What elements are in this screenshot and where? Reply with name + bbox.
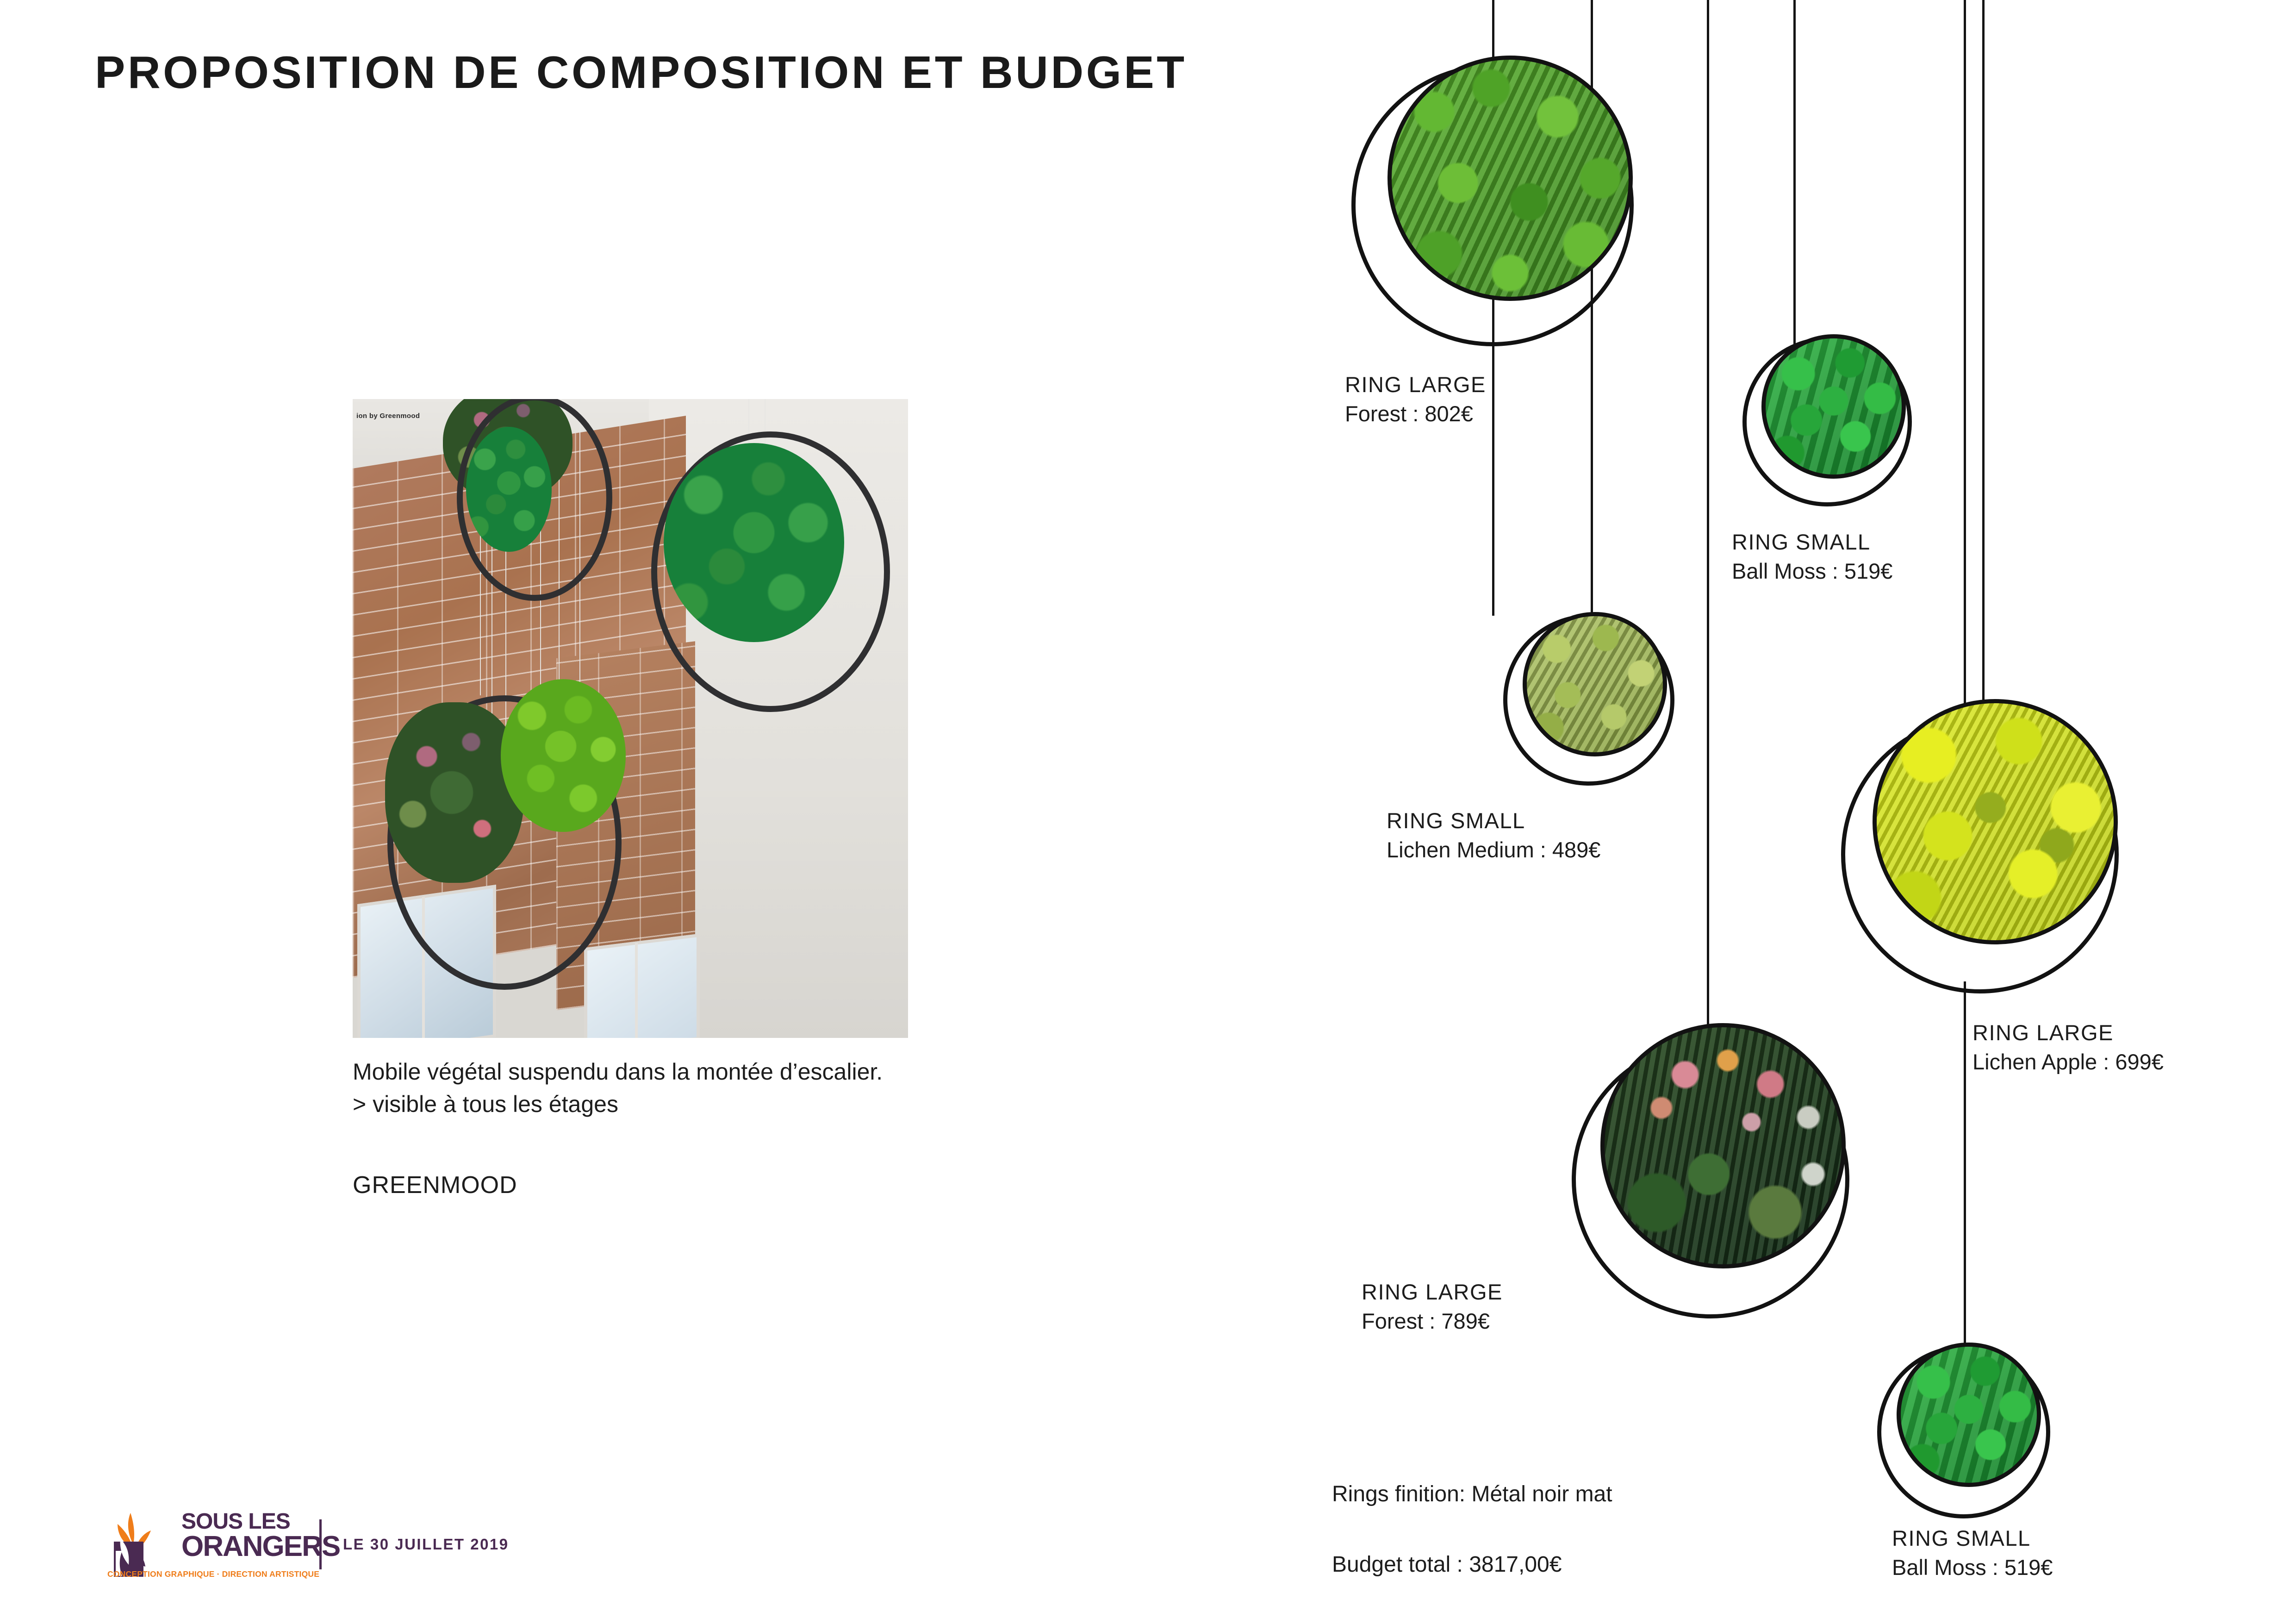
photo-moss-disc (664, 443, 844, 642)
photo-moss-disc (466, 427, 552, 552)
moss-disc-lichen-apple (1873, 699, 2118, 944)
ring-detail: Lichen Apple : 699€ (1972, 1049, 2164, 1074)
suspension-wire (1964, 981, 1966, 1375)
suspension-wire (1793, 0, 1796, 366)
reference-photo: ion by Greenmood (353, 399, 908, 1038)
ring-label-ball-moss-519-top: RING SMALL Ball Moss : 519€ (1732, 528, 1892, 586)
moss-disc-forest (1388, 56, 1633, 301)
rings-finish-text: Rings finition: Métal noir mat (1332, 1481, 1612, 1507)
logo-line-1: SOUS LES (181, 1511, 340, 1532)
ring-label-ball-moss-519-bottom: RING SMALL Ball Moss : 519€ (1892, 1524, 2053, 1582)
logo-tagline: CONCEPTION GRAPHIQUE · DIRECTION ARTISTI… (107, 1569, 319, 1579)
photo-moss-disc (501, 679, 626, 832)
moss-disc-ball (1897, 1343, 2041, 1487)
suspension-wire (1707, 0, 1709, 1042)
ring-type: RING LARGE (1362, 1280, 1503, 1304)
ring-detail: Forest : 802€ (1345, 401, 1473, 426)
ring-label-forest-802: RING LARGE Forest : 802€ (1345, 370, 1486, 429)
ring-type: RING SMALL (1892, 1526, 2031, 1550)
logo-wordmark: SOUS LES ORANGERS (181, 1511, 340, 1560)
ring-label-forest-789: RING LARGE Forest : 789€ (1362, 1278, 1503, 1336)
suspension-wire (1964, 0, 1966, 720)
ring-type: RING SMALL (1732, 530, 1871, 554)
budget-total-text: Budget total : 3817,00€ (1332, 1552, 1562, 1577)
ring-detail: Forest : 789€ (1362, 1309, 1490, 1333)
photo-caption-line-1: Mobile végétal suspendu dans la montée d… (353, 1056, 883, 1087)
ring-detail: Ball Moss : 519€ (1892, 1555, 2053, 1580)
photo-watermark: ion by Greenmood (356, 412, 420, 420)
photo-caption-line-2: > visible à tous les étages (353, 1089, 618, 1119)
footer: SOUS LES ORANGERS CONCEPTION GRAPHIQUE ·… (106, 1504, 509, 1585)
ring-type: RING SMALL (1387, 808, 1525, 833)
photo-window-mullion (635, 943, 638, 1038)
photo-plant-cluster (385, 702, 524, 883)
supplier-name: GREENMOOD (353, 1171, 517, 1199)
ring-type: RING LARGE (1972, 1020, 2114, 1045)
page-title: PROPOSITION DE COMPOSITION ET BUDGET (95, 46, 1187, 99)
moss-disc-ball (1761, 334, 1906, 479)
poster-page: PROPOSITION DE COMPOSITION ET BUDGET ion… (0, 0, 2296, 1624)
ring-type: RING LARGE (1345, 372, 1486, 397)
logo-sous-les-orangers[interactable]: SOUS LES ORANGERS CONCEPTION GRAPHIQUE ·… (106, 1504, 305, 1585)
moss-disc-forest-flower (1600, 1023, 1846, 1268)
photo-window-right (584, 934, 700, 1038)
footer-date: LE 30 JUILLET 2019 (343, 1536, 509, 1553)
moss-disc-lichen-medium (1523, 612, 1667, 756)
logo-line-2: ORANGERS (181, 1533, 340, 1561)
ring-label-lichen-medium-489: RING SMALL Lichen Medium : 489€ (1387, 806, 1600, 865)
ring-detail: Lichen Medium : 489€ (1387, 837, 1600, 862)
ring-detail: Ball Moss : 519€ (1732, 559, 1892, 583)
suspension-wire (1982, 0, 1985, 722)
ring-label-lichen-apple-699: RING LARGE Lichen Apple : 699€ (1972, 1018, 2164, 1077)
